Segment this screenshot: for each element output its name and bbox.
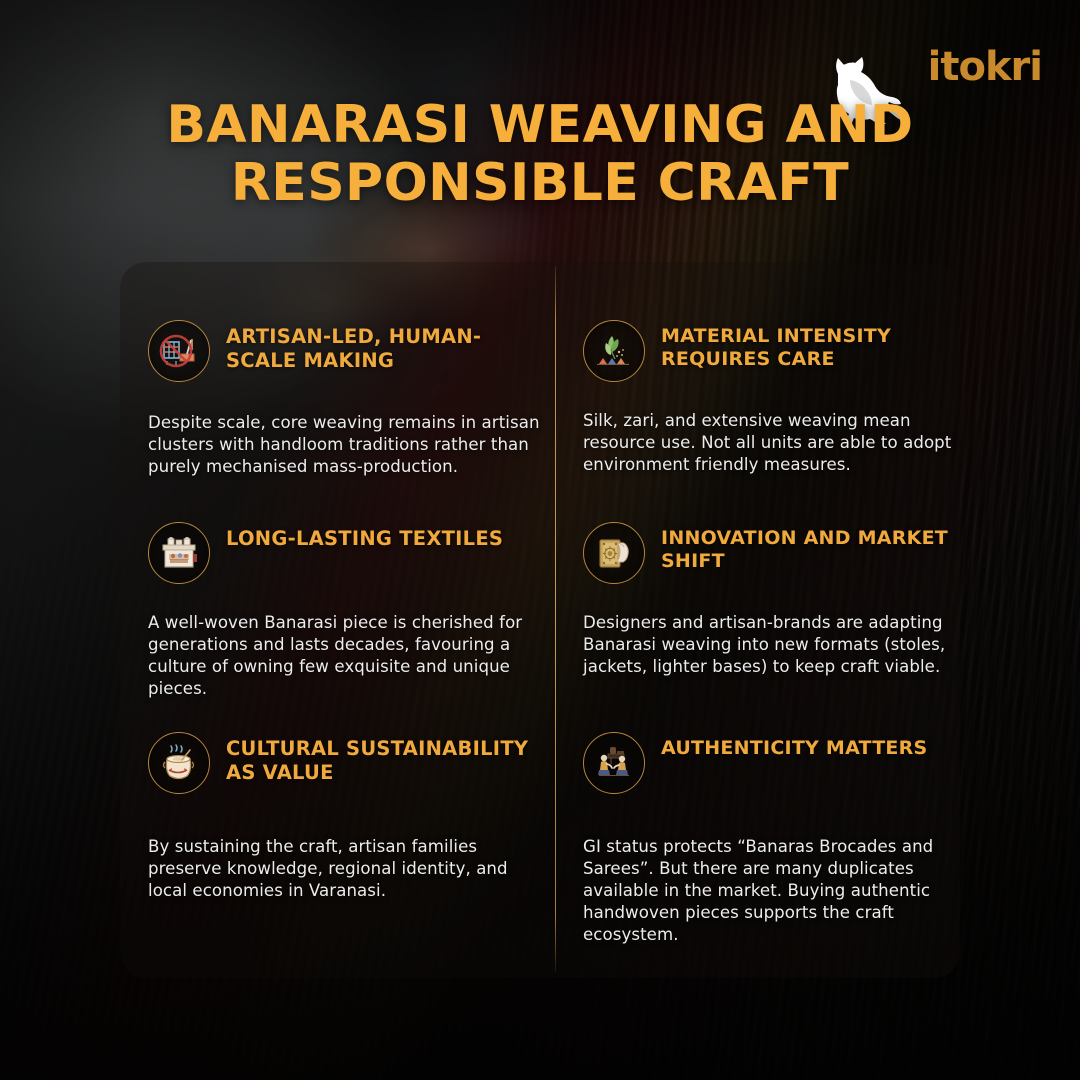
card-header: CULTURAL SUSTAINABILITY AS VALUE [148,732,548,794]
page-title-line-2: RESPONSIBLE CRAFT [231,153,849,213]
page-title-line-1: BANARASI WEAVING AND [166,95,913,155]
card-artisan-led: ARTISAN-LED, HUMAN-SCALE MAKING Despite … [148,320,548,478]
card-body: A well-woven Banarasi piece is cherished… [148,612,544,700]
card-title: AUTHENTICITY MATTERS [661,732,927,760]
card-body: GI status protects “Banaras Brocades and… [583,836,983,946]
page-title: BANARASI WEAVING AND RESPONSIBLE CRAFT [0,96,1080,212]
card-header: MATERIAL INTENSITY REQUIRES CARE [583,320,983,382]
card-title: ARTISAN-LED, HUMAN-SCALE MAKING [226,320,548,373]
card-header: LONG-LASTING TEXTILES [148,522,548,584]
two-weavers-at-loom-icon [583,732,645,794]
card-material-intensity: MATERIAL INTENSITY REQUIRES CARE Silk, z… [583,320,983,476]
card-header: AUTHENTICITY MATTERS [583,732,983,794]
card-body: Silk, zari, and extensive weaving mean r… [583,410,983,476]
card-authenticity-matters: AUTHENTICITY MATTERS GI status protects … [583,732,983,946]
card-body: By sustaining the craft, artisan familie… [148,836,544,902]
card-body: Despite scale, core weaving remains in a… [148,412,544,478]
card-innovation-market-shift: INNOVATION AND MARKET SHIFT Designers an… [583,522,983,678]
artisan-workshop-icon [148,522,210,584]
column-divider [555,266,556,972]
card-long-lasting-textiles: LONG-LASTING TEXTILES A well-woven Banar… [148,522,548,700]
card-title: CULTURAL SUSTAINABILITY AS VALUE [226,732,548,785]
leaves-and-dyes-icon [583,320,645,382]
no-mass-production-icon [148,320,210,382]
card-header: INNOVATION AND MARKET SHIFT [583,522,983,584]
card-header: ARTISAN-LED, HUMAN-SCALE MAKING [148,320,548,382]
brand-logo[interactable]: itokri [922,38,1042,96]
steaming-pot-icon [148,732,210,794]
infographic-poster: itokri BANARASI WEAVING AND RESPONSIBLE … [0,0,1080,1080]
card-title: MATERIAL INTENSITY REQUIRES CARE [661,320,983,371]
card-cultural-sustainability: CULTURAL SUSTAINABILITY AS VALUE By sust… [148,732,548,902]
brand-logo-text: itokri [928,47,1042,87]
card-body: Designers and artisan-brands are adaptin… [583,612,983,678]
card-title: INNOVATION AND MARKET SHIFT [661,522,983,573]
hand-holding-brocade-icon [583,522,645,584]
card-title: LONG-LASTING TEXTILES [226,522,503,551]
